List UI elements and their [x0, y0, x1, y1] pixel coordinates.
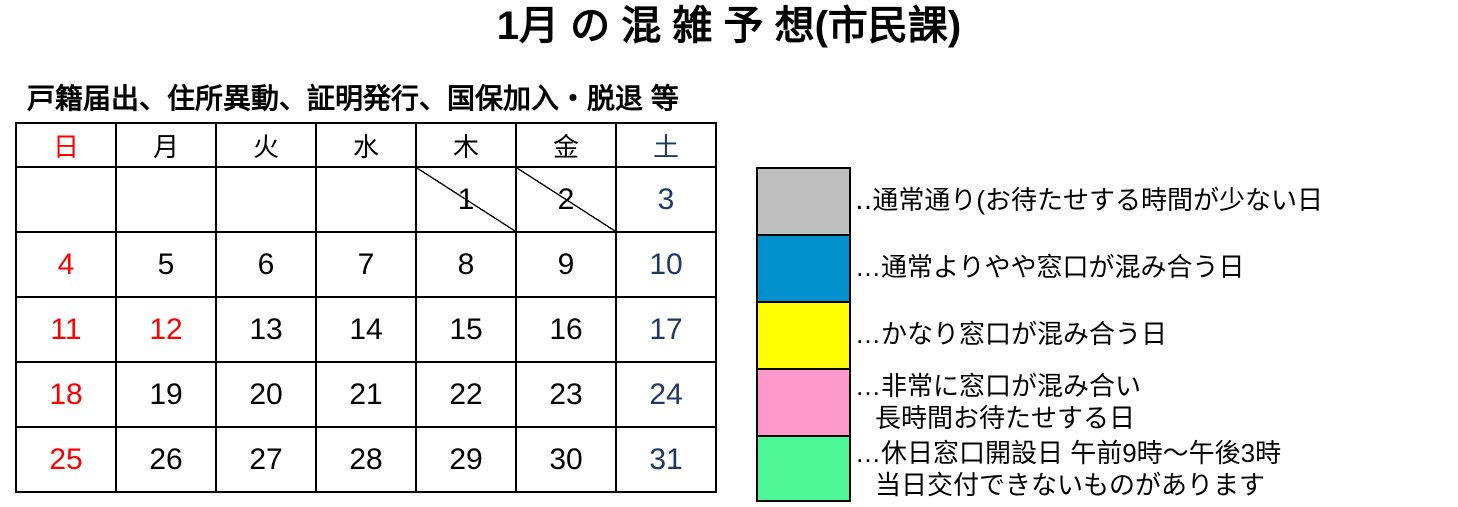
calendar-day-15[interactable]: 15	[416, 297, 516, 362]
day-number: 25	[49, 443, 82, 476]
day-number: 3	[658, 183, 675, 216]
calendar-day-11[interactable]: 11	[16, 297, 116, 362]
calendar-day-17[interactable]: 17	[616, 297, 716, 362]
calendar-day-12[interactable]: 12	[116, 297, 216, 362]
calendar-day-2[interactable]: 2	[516, 167, 616, 232]
day-number: 2	[558, 183, 575, 216]
day-number: 6	[258, 248, 275, 281]
calendar-day-18[interactable]: 18	[16, 362, 116, 427]
legend-swatch-green	[756, 435, 851, 502]
legend-swatch-pink	[756, 368, 851, 435]
calendar-day-24[interactable]: 24	[616, 362, 716, 427]
legend-line-1: …休日窓口開設日 午前9時～午後3時	[855, 437, 1281, 469]
legend-text-yellow: …かなり窓口が混み合う日	[855, 301, 1167, 350]
day-number: 10	[649, 248, 682, 281]
day-number: 9	[558, 248, 575, 281]
calendar-week-row: 45678910	[16, 232, 716, 297]
calendar-day-22[interactable]: 22	[416, 362, 516, 427]
calendar-day-empty	[116, 167, 216, 232]
calendar-day-30[interactable]: 30	[516, 427, 616, 492]
calendar-day-5[interactable]: 5	[116, 232, 216, 297]
day-number: 18	[49, 378, 82, 411]
calendar-day-1[interactable]: 1	[416, 167, 516, 232]
weekday-header-6: 土	[616, 123, 716, 167]
calendar-day-20[interactable]: 20	[216, 362, 316, 427]
calendar-day-10[interactable]: 10	[616, 232, 716, 297]
weekday-header-4: 木	[416, 123, 516, 167]
legend-row-yellow: …かなり窓口が混み合う日	[756, 301, 1323, 368]
day-number: 24	[649, 378, 682, 411]
day-number: 30	[549, 443, 582, 476]
calendar-body: 1234567891011121314151617181920212223242…	[16, 167, 716, 492]
day-number: 15	[449, 313, 482, 346]
calendar-day-21[interactable]: 21	[316, 362, 416, 427]
calendar-day-25[interactable]: 25	[16, 427, 116, 492]
day-number: 27	[249, 443, 282, 476]
day-number: 26	[149, 443, 182, 476]
day-number: 5	[158, 248, 175, 281]
day-number: 28	[349, 443, 382, 476]
legend-swatch-yellow	[756, 301, 851, 368]
day-number: 7	[358, 248, 375, 281]
legend-row-pink: …非常に窓口が混み合い長時間お待たせする日	[756, 368, 1323, 435]
calendar-day-empty	[216, 167, 316, 232]
day-number: 23	[549, 378, 582, 411]
legend-text-blue: …通常よりやや窓口が混み合う日	[855, 234, 1244, 283]
day-number: 21	[349, 378, 382, 411]
calendar-day-23[interactable]: 23	[516, 362, 616, 427]
day-number: 29	[449, 443, 482, 476]
calendar-day-19[interactable]: 19	[116, 362, 216, 427]
day-number: 22	[449, 378, 482, 411]
legend-line-1: ‥通常通り(お待たせする時間が少ない日	[855, 184, 1323, 216]
day-number: 16	[549, 313, 582, 346]
calendar-day-13[interactable]: 13	[216, 297, 316, 362]
calendar-day-16[interactable]: 16	[516, 297, 616, 362]
day-number: 13	[249, 313, 282, 346]
calendar-week-row: 123	[16, 167, 716, 232]
legend-line-1: …通常よりやや窓口が混み合う日	[855, 251, 1244, 283]
day-number: 1	[458, 183, 475, 216]
day-number: 11	[50, 313, 81, 346]
legend-swatch-gray	[756, 167, 851, 234]
calendar-day-empty	[316, 167, 416, 232]
weekday-header-3: 水	[316, 123, 416, 167]
calendar-day-14[interactable]: 14	[316, 297, 416, 362]
calendar-day-26[interactable]: 26	[116, 427, 216, 492]
weekday-header-2: 火	[216, 123, 316, 167]
legend-text-gray: ‥通常通り(お待たせする時間が少ない日	[855, 167, 1323, 216]
day-number: 14	[349, 313, 382, 346]
weekday-header-1: 月	[116, 123, 216, 167]
legend-line-2: 当日交付できないものがあります	[855, 469, 1281, 501]
weekday-header-0: 日	[16, 123, 116, 167]
calendar-day-6[interactable]: 6	[216, 232, 316, 297]
congestion-calendar: 日月火水木金土 12345678910111213141516171819202…	[15, 122, 717, 493]
calendar-week-row: 25262728293031	[16, 427, 716, 492]
legend-line-1: …かなり窓口が混み合う日	[855, 318, 1167, 350]
calendar-day-27[interactable]: 27	[216, 427, 316, 492]
day-number: 20	[249, 378, 282, 411]
weekday-header-5: 金	[516, 123, 616, 167]
calendar-day-28[interactable]: 28	[316, 427, 416, 492]
legend-row-green: …休日窓口開設日 午前9時～午後3時当日交付できないものがあります	[756, 435, 1323, 502]
calendar-day-9[interactable]: 9	[516, 232, 616, 297]
day-number: 12	[149, 313, 182, 346]
day-number: 19	[149, 378, 182, 411]
legend-text-pink: …非常に窓口が混み合い長時間お待たせする日	[855, 368, 1141, 434]
calendar-week-row: 18192021222324	[16, 362, 716, 427]
calendar-day-3[interactable]: 3	[616, 167, 716, 232]
day-number: 17	[649, 313, 682, 346]
page-title: 1月 の 混 雑 予 想(市民課)	[0, 2, 1458, 50]
subtitle-services: 戸籍届出、住所異動、証明発行、国保加入・脱退 等	[27, 82, 679, 116]
legend-row-blue: …通常よりやや窓口が混み合う日	[756, 234, 1323, 301]
legend-row-gray: ‥通常通り(お待たせする時間が少ない日	[756, 167, 1323, 234]
calendar-day-empty	[16, 167, 116, 232]
calendar-day-8[interactable]: 8	[416, 232, 516, 297]
legend: ‥通常通り(お待たせする時間が少ない日…通常よりやや窓口が混み合う日…かなり窓口…	[756, 167, 1323, 502]
day-number: 8	[458, 248, 475, 281]
legend-line-2: 長時間お待たせする日	[855, 402, 1141, 434]
legend-swatch-blue	[756, 234, 851, 301]
calendar-day-4[interactable]: 4	[16, 232, 116, 297]
calendar-weekday-header-row: 日月火水木金土	[16, 123, 716, 167]
calendar-day-31[interactable]: 31	[616, 427, 716, 492]
legend-text-green: …休日窓口開設日 午前9時～午後3時当日交付できないものがあります	[855, 435, 1281, 501]
day-number: 4	[58, 248, 75, 281]
calendar-day-29[interactable]: 29	[416, 427, 516, 492]
calendar-week-row: 11121314151617	[16, 297, 716, 362]
legend-line-1: …非常に窓口が混み合い	[855, 370, 1141, 402]
calendar-day-7[interactable]: 7	[316, 232, 416, 297]
day-number: 31	[649, 443, 682, 476]
